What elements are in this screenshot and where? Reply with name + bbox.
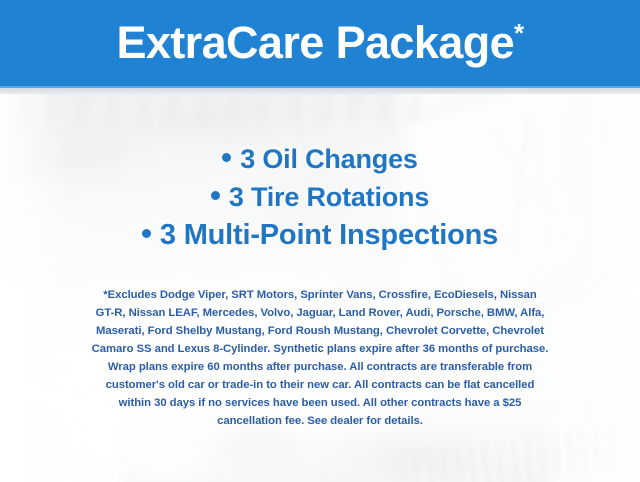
disclaimer-line: Maserati, Ford Shelby Mustang, Ford Rous… <box>26 322 614 340</box>
extracare-package-ad: ExtraCare Package* 3 Oil Changes 3 Tire … <box>0 0 640 482</box>
list-item: 3 Tire Rotations <box>0 178 640 216</box>
list-item-label: 3 Oil Changes <box>240 144 417 174</box>
header-banner: ExtraCare Package* <box>0 0 640 88</box>
footnote-asterisk: * <box>514 18 524 48</box>
page-title: ExtraCare Package* <box>116 20 523 65</box>
disclaimer-line: customer's old car or trade-in to their … <box>26 376 614 394</box>
bullet-dot-icon <box>211 191 220 200</box>
disclaimer-line: Wrap plans expire 60 months after purcha… <box>26 358 614 376</box>
bullet-dot-icon <box>142 229 151 238</box>
banner-underline <box>0 88 640 94</box>
disclaimer-line: within 30 days if no services have been … <box>26 394 614 412</box>
disclaimer-line: *Excludes Dodge Viper, SRT Motors, Sprin… <box>26 286 614 304</box>
disclaimer-line: cancellation fee. See dealer for details… <box>26 412 614 430</box>
bullet-dot-icon <box>222 153 231 162</box>
disclaimer-line: Camaro SS and Lexus 8-Cylinder. Syntheti… <box>26 340 614 358</box>
offer-bullet-list: 3 Oil Changes 3 Tire Rotations 3 Multi-P… <box>0 140 640 254</box>
list-item-label: 3 Multi-Point Inspections <box>160 219 498 251</box>
page-title-text: ExtraCare Package <box>116 17 514 68</box>
disclaimer-line: GT-R, Nissan LEAF, Mercedes, Volvo, Jagu… <box>26 304 614 322</box>
list-item-label: 3 Tire Rotations <box>229 182 429 212</box>
list-item: 3 Oil Changes <box>0 140 640 178</box>
disclaimer-text: *Excludes Dodge Viper, SRT Motors, Sprin… <box>26 286 614 430</box>
list-item: 3 Multi-Point Inspections <box>0 216 640 254</box>
